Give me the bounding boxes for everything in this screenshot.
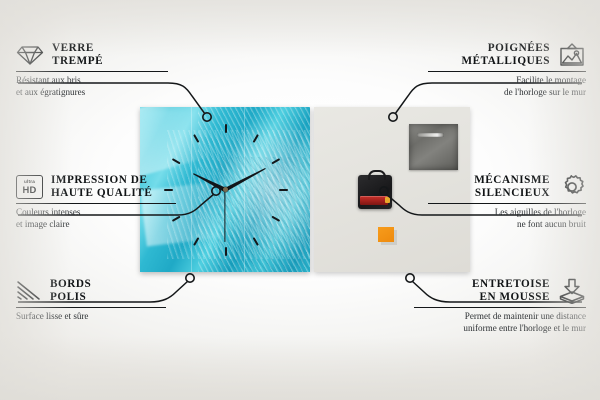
product-image-group <box>140 107 470 272</box>
minute-hand <box>224 166 266 191</box>
hour-marker <box>225 124 227 133</box>
movement-hanging-loop <box>368 170 386 180</box>
callout-hd-print: ultra HD IMPRESSION DE HAUTE QUALITÉ Cou… <box>16 174 176 230</box>
callout-description: Permet de maintenir une distance uniform… <box>414 311 586 334</box>
badge-hd-label: HD <box>23 185 37 194</box>
callout-title: BORDS POLIS <box>50 278 91 304</box>
callout-divider <box>16 71 168 72</box>
quartz-movement-box <box>358 175 392 209</box>
callout-silent-mechanism: MÉCANISME SILENCIEUX Les aiguilles de l'… <box>428 174 586 230</box>
second-hand <box>224 190 225 242</box>
callout-title: IMPRESSION DE HAUTE QUALITÉ <box>51 174 152 200</box>
callout-description: Les aiguilles de l'horloge ne font aucun… <box>428 207 586 230</box>
hour-marker <box>253 134 259 143</box>
callout-title: MÉCANISME SILENCIEUX <box>474 174 550 200</box>
hour-marker <box>225 247 227 256</box>
battery <box>360 196 389 205</box>
callout-divider <box>16 203 176 204</box>
callout-description: Résistant aux bris et aux égratignures <box>16 75 168 98</box>
callout-title: VERRE TREMPÉ <box>52 42 103 68</box>
connector-endpoint-polished-edges <box>186 274 194 282</box>
diamond-icon <box>16 44 44 66</box>
foam-spacer-pad <box>378 227 394 242</box>
callout-divider <box>414 307 586 308</box>
hanging-picture-frame-icon <box>558 43 586 67</box>
gear-icon <box>558 174 586 200</box>
callout-description: Couleurs intenses et image claire <box>16 207 176 230</box>
hour-marker <box>193 237 199 246</box>
hour-marker <box>271 158 280 164</box>
arrow-press-pad-icon <box>558 278 586 304</box>
callout-description: Surface lisse et sûre <box>16 311 166 322</box>
callout-title: POIGNÉES MÉTALLIQUES <box>461 42 550 68</box>
callout-divider <box>16 307 166 308</box>
callout-tempered-glass: VERRE TREMPÉ Résistant aux bris et aux é… <box>16 42 168 98</box>
hour-hand <box>192 171 226 191</box>
battery-terminal <box>385 197 390 202</box>
metal-hanger-plate <box>409 124 458 170</box>
hour-marker <box>193 134 199 143</box>
callout-description: Facilite le montage de l'horloge sur le … <box>428 75 586 98</box>
infographic-canvas: VERRE TREMPÉ Résistant aux bris et aux é… <box>0 0 600 400</box>
hand-center-cap <box>223 187 228 192</box>
callout-divider <box>428 203 586 204</box>
callout-metal-handles: POIGNÉES MÉTALLIQUES Facilite le montage… <box>428 42 586 98</box>
hour-marker <box>172 158 181 164</box>
callout-divider <box>428 71 586 72</box>
hour-marker <box>271 215 280 221</box>
hour-marker <box>279 189 288 191</box>
callout-title: ENTRETOISE EN MOUSSE <box>472 278 550 304</box>
polished-edge-hatch-icon <box>16 280 42 302</box>
callout-foam-spacer: ENTRETOISE EN MOUSSE Permet de maintenir… <box>414 278 586 334</box>
ultra-hd-badge-icon: ultra HD <box>16 175 43 199</box>
connector-endpoint-foam-spacer <box>406 274 414 282</box>
hour-marker <box>253 237 259 246</box>
hanger-slot <box>417 133 444 137</box>
callout-polished-edges: BORDS POLIS Surface lisse et sûre <box>16 278 166 323</box>
